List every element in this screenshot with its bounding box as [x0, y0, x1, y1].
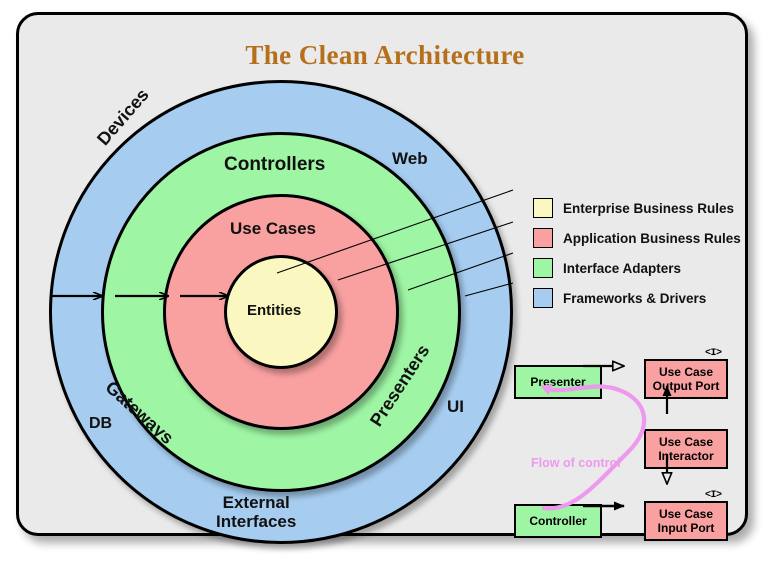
uml-box-use-case-input-port: Use Case Input Port — [644, 501, 728, 541]
ring-label-external-line2: Interfaces — [216, 512, 296, 531]
uml-label-controller: Controller — [529, 514, 586, 528]
uml-label-interactor-line1: Use Case — [659, 435, 713, 449]
uml-label-presenter: Presenter — [530, 375, 585, 389]
page-title: The Clean Architecture — [19, 40, 751, 71]
ring-label-controllers: Controllers — [224, 154, 325, 175]
legend-label-frameworks: Frameworks & Drivers — [563, 291, 706, 306]
ring-label-web: Web — [392, 149, 428, 168]
uml-box-controller: Controller — [514, 504, 602, 538]
ring-label-external-interfaces: External Interfaces — [216, 493, 296, 531]
uml-label-output-port-line1: Use Case — [659, 365, 713, 379]
legend-swatch-enterprise — [533, 198, 553, 218]
uml-label-output-port-line2: Output Port — [653, 379, 720, 393]
legend-item-application: Application Business Rules — [533, 223, 741, 253]
legend-label-application: Application Business Rules — [563, 231, 741, 246]
uml-label-input-port-line2: Input Port — [658, 521, 715, 535]
uml-label-input-port: Use Case Input Port — [658, 507, 715, 535]
legend: Enterprise Business Rules Application Bu… — [533, 193, 741, 313]
interface-marker-input-port: <I> — [705, 490, 722, 501]
uml-label-interactor: Use Case Interactor — [658, 435, 713, 463]
legend-swatch-adapters — [533, 258, 553, 278]
ring-label-external-line1: External — [216, 493, 296, 512]
flow-of-control-label: Flow of control — [531, 456, 621, 470]
uml-label-input-port-line1: Use Case — [659, 507, 713, 521]
ring-label-use-cases: Use Cases — [230, 219, 316, 238]
legend-swatch-frameworks — [533, 288, 553, 308]
ring-label-entities: Entities — [247, 303, 301, 320]
legend-label-adapters: Interface Adapters — [563, 261, 681, 276]
legend-swatch-application — [533, 228, 553, 248]
uml-box-presenter: Presenter — [514, 365, 602, 399]
legend-label-enterprise: Enterprise Business Rules — [563, 201, 734, 216]
uml-box-use-case-output-port: Use Case Output Port — [644, 359, 728, 399]
ring-label-db: DB — [89, 415, 112, 433]
legend-item-enterprise: Enterprise Business Rules — [533, 193, 741, 223]
legend-item-frameworks: Frameworks & Drivers — [533, 283, 741, 313]
legend-item-adapters: Interface Adapters — [533, 253, 741, 283]
diagram-canvas: The Clean Architecture Devices Web UI DB… — [0, 0, 772, 567]
ring-label-ui: UI — [447, 397, 464, 416]
uml-box-use-case-interactor: Use Case Interactor — [644, 429, 728, 469]
diagram-frame: The Clean Architecture Devices Web UI DB… — [16, 12, 748, 536]
interface-marker-output-port: <I> — [705, 348, 722, 359]
uml-label-output-port: Use Case Output Port — [653, 365, 720, 393]
uml-label-interactor-line2: Interactor — [658, 449, 713, 463]
